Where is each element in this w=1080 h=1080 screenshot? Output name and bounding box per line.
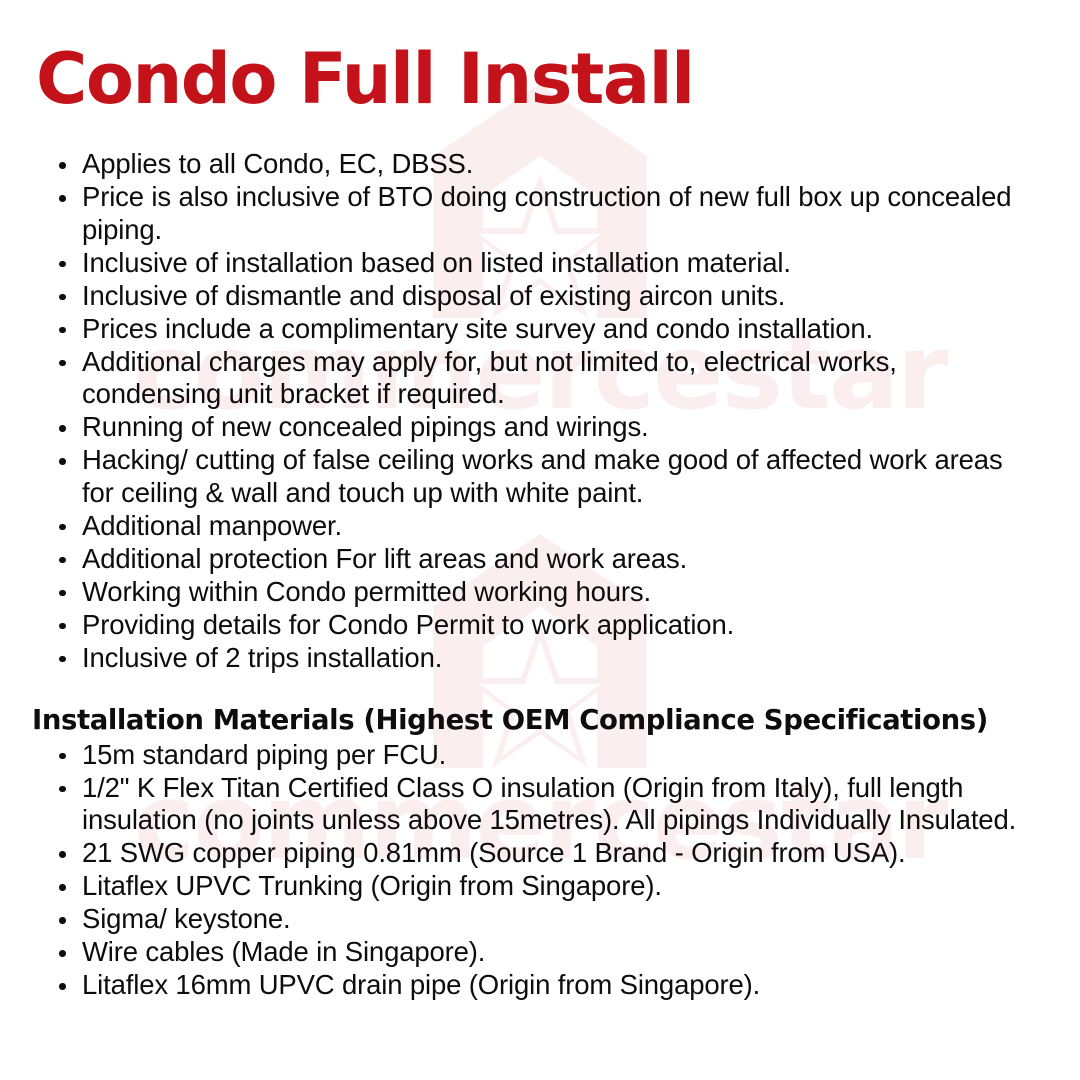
- list-item: Providing details for Condo Permit to wo…: [0, 609, 1080, 642]
- list-item: Litaflex 16mm UPVC drain pipe (Origin fr…: [0, 969, 1080, 1002]
- list-item: Inclusive of installation based on liste…: [0, 247, 1080, 280]
- list-item: Additional charges may apply for, but no…: [0, 346, 1080, 411]
- page-title: Condo Full Install: [36, 44, 694, 114]
- list-item: Sigma/ keystone.: [0, 903, 1080, 936]
- list-item: Litaflex UPVC Trunking (Origin from Sing…: [0, 870, 1080, 903]
- list-item: 21 SWG copper piping 0.81mm (Source 1 Br…: [0, 837, 1080, 870]
- list-item: Working within Condo permitted working h…: [0, 576, 1080, 609]
- scope-bullet-list: Applies to all Condo, EC, DBSS. Price is…: [0, 148, 1080, 674]
- list-item: Wire cables (Made in Singapore).: [0, 936, 1080, 969]
- list-item: Inclusive of 2 trips installation.: [0, 642, 1080, 675]
- list-item: Additional protection For lift areas and…: [0, 543, 1080, 576]
- list-item: Applies to all Condo, EC, DBSS.: [0, 148, 1080, 181]
- section-heading-installation-materials: Installation Materials (Highest OEM Comp…: [0, 704, 1080, 737]
- list-item: Prices include a complimentary site surv…: [0, 313, 1080, 346]
- list-item: 15m standard piping per FCU.: [0, 739, 1080, 772]
- list-item: Hacking/ cutting of false ceiling works …: [0, 444, 1080, 509]
- list-item: Inclusive of dismantle and disposal of e…: [0, 280, 1080, 313]
- list-item: Price is also inclusive of BTO doing con…: [0, 181, 1080, 246]
- list-item: Additional manpower.: [0, 510, 1080, 543]
- content-area: Applies to all Condo, EC, DBSS. Price is…: [0, 148, 1080, 1002]
- list-item: 1/2" K Flex Titan Certified Class O insu…: [0, 772, 1080, 837]
- installation-materials-bullet-list: 15m standard piping per FCU. 1/2" K Flex…: [0, 739, 1080, 1002]
- list-item: Running of new concealed pipings and wir…: [0, 411, 1080, 444]
